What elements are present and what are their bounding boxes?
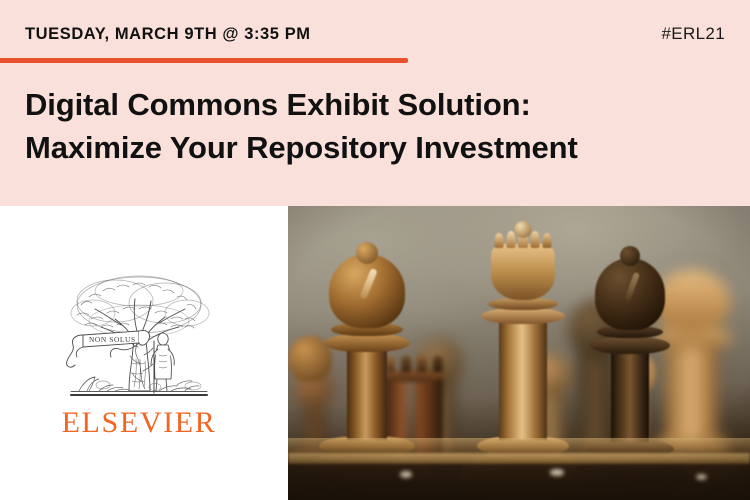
- lower-section: NON SOLUS ELSEVIER: [0, 206, 750, 500]
- elsevier-wordmark: ELSEVIER: [62, 408, 217, 438]
- event-hashtag: #ERL21: [662, 24, 725, 44]
- eyebrow-row: TUESDAY, MARCH 9TH @ 3:35 PM #ERL21: [25, 24, 725, 44]
- header-band: TUESDAY, MARCH 9TH @ 3:35 PM #ERL21 Digi…: [0, 0, 750, 206]
- page-title-line-1: Digital Commons Exhibit Solution:: [25, 84, 735, 127]
- page-title-line-2: Maximize Your Repository Investment: [25, 127, 735, 170]
- event-datetime: TUESDAY, MARCH 9TH @ 3:35 PM: [25, 25, 311, 44]
- non-solus-motto-text: NON SOLUS: [89, 335, 136, 344]
- photo-vignette: [288, 206, 750, 500]
- page-title: Digital Commons Exhibit Solution: Maximi…: [25, 84, 735, 170]
- chess-photo: [288, 206, 750, 500]
- elsevier-tree-icon: NON SOLUS: [59, 269, 219, 403]
- brand-logo-panel: NON SOLUS ELSEVIER: [0, 206, 288, 500]
- accent-rule-divider: [0, 58, 408, 63]
- elsevier-logo: NON SOLUS ELSEVIER: [54, 269, 224, 438]
- promo-card: TUESDAY, MARCH 9TH @ 3:35 PM #ERL21 Digi…: [0, 0, 750, 500]
